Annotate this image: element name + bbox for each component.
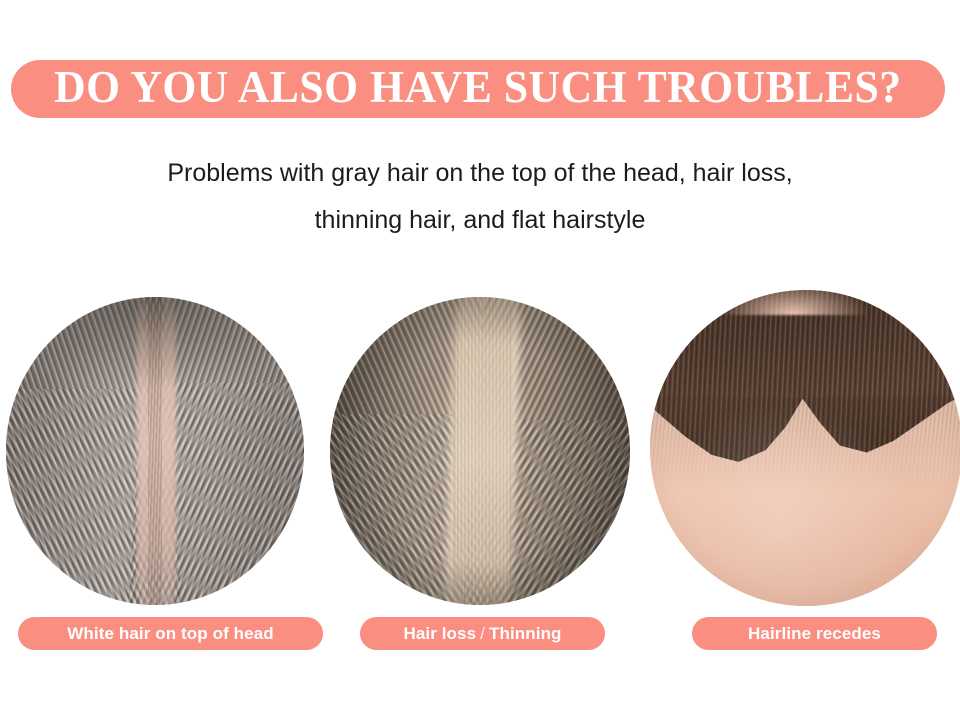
caption-white-hair-label: White hair on top of head bbox=[67, 624, 273, 644]
photo-row bbox=[0, 0, 960, 714]
photo-hairline bbox=[650, 290, 960, 606]
caption-hairline-label: Hairline recedes bbox=[748, 624, 881, 644]
caption-white-hair: White hair on top of head bbox=[18, 617, 323, 650]
photo-white-hair bbox=[6, 297, 304, 605]
caption-hair-loss-label-part2: Thinning bbox=[489, 624, 562, 644]
infographic-page: DO YOU ALSO HAVE SUCH TROUBLES? Problems… bbox=[0, 0, 960, 714]
caption-hair-loss-label-part1: Hair loss bbox=[403, 624, 476, 644]
caption-hair-loss: Hair loss / Thinning bbox=[360, 617, 605, 650]
caption-hair-loss-separator: / bbox=[476, 624, 489, 644]
caption-hairline: Hairline recedes bbox=[692, 617, 937, 650]
photo-hair-loss bbox=[330, 297, 630, 605]
